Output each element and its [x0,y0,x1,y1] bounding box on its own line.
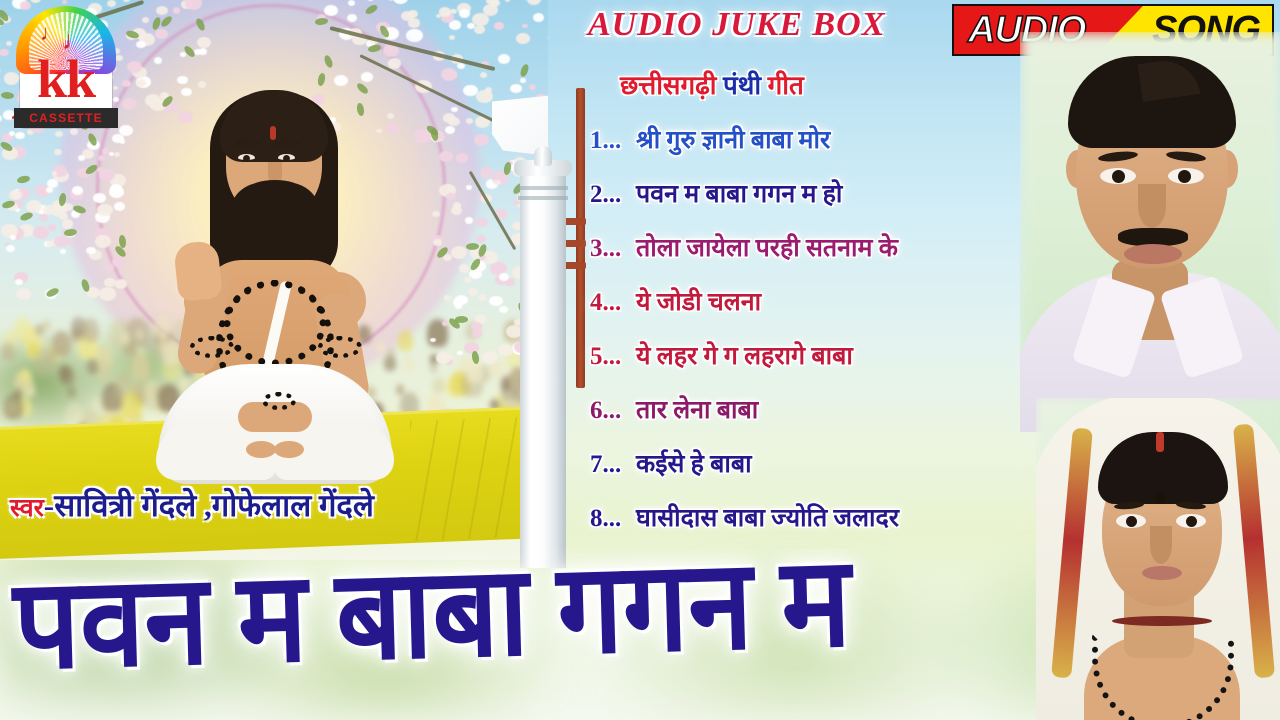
track-title: ये जोडी चलना [636,289,761,316]
blossom-petal [408,18,419,27]
blossom-petal [60,249,66,254]
blossom-petal [47,179,57,187]
blossom-petal [361,72,373,82]
crowd-figure [1,343,14,360]
track-list: 1...श्री गुरु ज्ञानी बाबा मोर2...पवन म ब… [590,114,1060,546]
blossom-petal [15,279,23,285]
saint-foot-right [274,441,304,458]
blossom-petal [48,224,56,230]
blossom-petal [443,113,455,122]
blossom-petal [474,25,485,34]
blossom-petal [348,0,355,6]
blossom-petal [67,239,74,244]
blossom-petal [136,79,146,87]
subtitle-part-1: छत्तीसगढ़ी [620,71,717,100]
blossom-petal [439,7,451,17]
track-title: तोला जायेला परही सतनाम के [636,235,898,262]
crowd-figure [81,318,100,342]
logo-cassette-label: CASSETTE [14,108,118,128]
blossom-petal [110,184,122,193]
blossom-petal [510,84,522,93]
female-sindoor [1156,432,1164,452]
female-pupil-left [1126,516,1137,527]
blossom-petal [115,279,127,289]
blossom-petal [476,235,486,243]
crowd-figure [122,332,130,343]
track-number: 6... [590,384,636,438]
blossom-petal [498,344,513,356]
logo-brand-text: kk [20,48,112,110]
female-choker [1112,616,1212,626]
track-item[interactable]: 1...श्री गुरु ज्ञानी बाबा मोर [590,114,1060,168]
crowd-figure [131,355,151,380]
blossom-petal [516,33,530,44]
track-item[interactable]: 2...पवन म बाबा गगन म हो [590,168,1060,222]
track-number: 4... [590,276,636,330]
blossom-petal [432,211,440,217]
crowd-figure [59,365,70,379]
credit-separator: - [44,488,54,523]
blossom-petal [119,270,124,274]
pillar-band-1 [518,186,568,190]
blossom-petal [177,76,187,84]
poster-canvas: ♩ ♩ kk ♩ ♩ CASSETTE AUDIO JUKE BOX AUDIO… [0,0,1280,720]
female-nose [1150,526,1172,564]
crowd-figure [43,320,51,330]
blossom-petal [430,338,435,342]
genre-subtitle: छत्तीसगढ़ी पंथी गीत [620,66,950,102]
blossom-petal [406,29,422,42]
blossom-petal [476,90,493,103]
track-item[interactable]: 7...कईसे हे बाबा [590,438,1060,492]
crowd-figure [6,400,18,415]
blossom-petal [43,205,55,214]
blossom-petal [155,29,167,39]
blossom-petal [114,152,120,157]
track-title: ये लहर गे ग लहरागे बाबा [636,343,853,370]
blossom-petal [442,321,448,326]
blossom-petal [489,296,502,306]
audio-juke-box-heading: AUDIO JUKE BOX [588,6,948,48]
track-title: तार लेना बाबा [636,397,758,424]
track-title: घासीदास बाबा ज्योति जलादर [636,505,899,532]
saint-armband-left [190,336,234,358]
track-number: 1... [590,114,636,168]
pillar-finial [534,146,552,166]
crowd-figure [430,363,437,373]
blossom-petal [78,155,85,161]
blossom-petal [127,61,142,73]
leaf [315,18,328,25]
blossom-petal [494,22,503,29]
blossom-petal [494,180,501,185]
saint-figure [150,84,400,484]
blossom-petal [112,134,124,143]
main-title-area: पवन म बाबा गगन म [0,548,1040,720]
pillar-band-2 [518,196,568,200]
blossom-petal [185,0,202,10]
track-title: श्री गुरु ज्ञानी बाबा मोर [636,127,830,154]
blossom-petal [9,190,22,200]
track-number: 3... [590,222,636,276]
saint-tilak [270,126,276,140]
track-title: कईसे हे बाबा [636,451,752,478]
blossom-petal [98,155,105,161]
blossom-petal [459,9,470,18]
crowd-figure [14,388,22,398]
track-item[interactable]: 3...तोला जायेला परही सतनाम के [590,222,1060,276]
blossom-petal [451,107,457,112]
blossom-petal [466,185,471,189]
crowd-figure [121,391,142,418]
blossom-petal [529,84,536,90]
blossom-petal [93,193,106,203]
male-pupil-right [1178,170,1191,183]
male-pupil-left [1112,170,1125,183]
blossom-petal [156,6,168,15]
blossom-petal [513,200,519,205]
blossom-petal [472,329,483,338]
blossom-petal [463,85,478,97]
blossom-petal [433,239,442,246]
singer-credit: स्वर-सावित्री गेंदले ,गोफेलाल गेंदले [10,484,374,526]
blossom-petal [54,149,61,155]
track-number: 7... [590,438,636,492]
blossom-petal [62,219,74,228]
track-number: 8... [590,492,636,546]
subtitle-part-2: पंथी [723,71,761,100]
track-item[interactable]: 4...ये जोडी चलना [590,276,1060,330]
blossom-petal [180,52,186,57]
saint-pupil-right [283,155,290,162]
blossom-petal [199,48,207,55]
crowd-figure [96,359,113,381]
blossom-petal [480,72,488,78]
crowd-figure [403,356,415,371]
female-bindi [1155,492,1166,503]
blossom-petal [104,278,116,287]
blossom-petal [520,78,525,82]
crowd-figure [35,347,57,375]
crowd-figure [432,377,444,393]
female-mangalsutra [1092,634,1234,720]
blossom-petal [465,217,473,224]
kk-cassette-logo: ♩ ♩ kk ♩ ♩ CASSETTE [6,4,126,132]
female-singer-photo [1036,398,1280,720]
blossom-petal [482,351,499,364]
album-title: पवन म बाबा गगन म [12,548,1026,708]
blossom-petal [446,193,456,201]
track-number: 2... [590,168,636,222]
blossom-petal [7,228,16,235]
crowd-figure [87,359,99,374]
blossom-petal [456,153,468,163]
track-number: 5... [590,330,636,384]
saint-brow-right [274,140,300,147]
blossom-petal [136,41,145,48]
blossom-petal [58,169,67,176]
subtitle-part-3: गीत [768,71,804,100]
music-note-icon-left: ♩ [40,20,62,46]
saint-wrist-beads [262,392,296,410]
blossom-petal [173,7,181,13]
blossom-petal [459,264,469,272]
flag-pole [576,88,585,388]
blossom-petal [6,245,15,252]
blossom-petal [474,134,489,146]
blossom-petal [453,298,463,306]
blossom-petal [197,37,211,48]
credit-names: सावित्री गेंदले ,गोफेलाल गेंदले [54,488,374,523]
crowd-figure [135,328,145,341]
blossom-petal [154,57,162,63]
saint-foot-left [246,441,276,458]
blossom-petal [444,295,452,301]
blossom-petal [95,235,111,248]
blossom-petal [72,186,83,195]
track-item[interactable]: 5...ये लहर गे ग लहरागे बाबा [590,330,1060,384]
crowd-figure [22,380,32,393]
male-singer-photo [1020,32,1280,432]
crowd-figure [459,357,471,373]
saint-pupil-left [243,155,250,162]
credit-label: स्वर [10,495,44,522]
saint-armband-right [318,336,362,358]
blossom-petal [533,13,544,22]
blossom-petal [466,118,473,123]
crowd-figure [29,342,36,351]
blossom-petal [52,171,57,175]
blossom-petal [457,351,463,356]
blossom-petal [16,288,30,300]
crowd-figure [92,398,102,410]
blossom-petal [15,132,24,139]
jaitkhamb-pillar [520,168,566,568]
male-nose [1138,184,1166,228]
male-lips [1124,244,1182,264]
blossom-petal [451,206,462,214]
blossom-petal [324,5,338,16]
crowd-figure [67,386,75,397]
blossom-petal [86,247,96,255]
track-title: पवन म बाबा गगन म हो [636,181,842,208]
female-lips [1142,566,1182,580]
track-item[interactable]: 6...तार लेना बाबा [590,384,1060,438]
blossom-petal [26,200,43,213]
saint-brow-left [234,140,260,147]
blossom-petal [436,352,451,364]
female-pupil-right [1186,516,1197,527]
track-item[interactable]: 8...घासीदास बाबा ज्योति जलादर [590,492,1060,546]
blossom-petal [114,202,125,210]
